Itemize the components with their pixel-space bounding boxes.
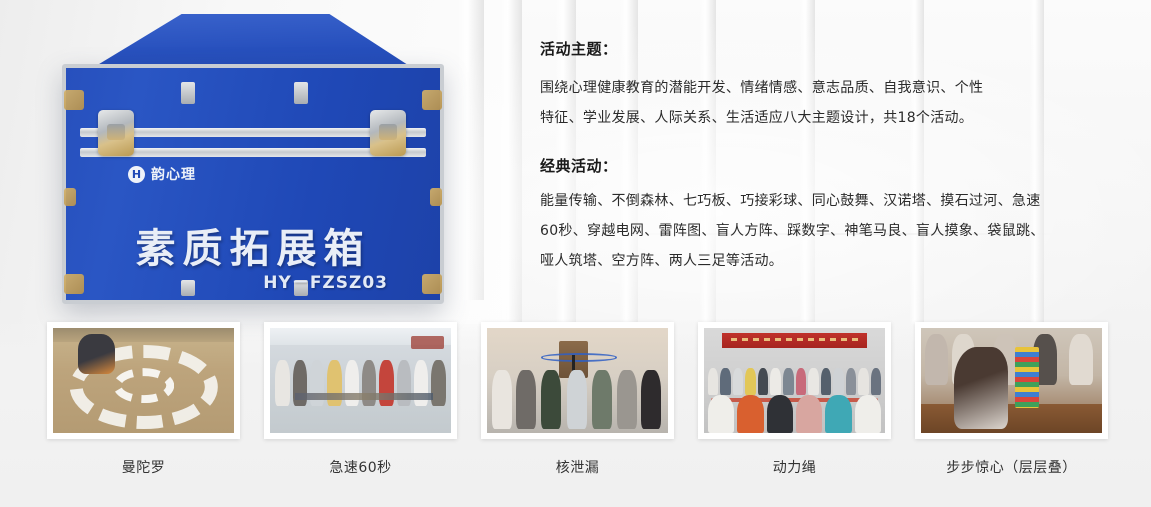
activity-gallery: 曼陀罗 急速60秒: [0, 322, 1151, 507]
case-latch-left: [98, 110, 134, 156]
section-heading-theme: 活动主题：: [540, 38, 1120, 59]
photo-speed-60s: [270, 328, 451, 433]
section-body-theme: 围绕心理健康教育的潜能开发、情绪情感、意志品质、自我意识、个性 特征、学业发展、…: [540, 73, 1120, 133]
gallery-item[interactable]: 急速60秒: [264, 322, 457, 507]
wooden-table: [921, 404, 1102, 433]
case-corner-protector: [430, 188, 442, 206]
observer-figure: [925, 334, 949, 384]
participant-figure: [954, 347, 1008, 429]
gallery-item[interactable]: 步步惊心（层层叠）: [915, 322, 1108, 507]
activity-line: 能量传输、不倒森林、七巧板、巧接彩球、同心鼓舞、汉诺塔、摸石过河、急速: [540, 186, 1120, 216]
gallery-caption: 动力绳: [698, 457, 891, 477]
case-corner-protector: [422, 90, 442, 110]
jenga-tower: [1015, 347, 1039, 408]
red-event-banner: [722, 333, 867, 348]
case-corner-protector: [64, 90, 84, 110]
brand-logo: H 韵心理: [128, 164, 196, 184]
case-corner-protector: [64, 188, 76, 206]
background-seating: [411, 336, 444, 349]
activity-ring: [541, 353, 617, 361]
product-case: H 韵心理 素质拓展箱 HY－FZSZ03: [52, 14, 452, 314]
gallery-caption: 急速60秒: [264, 457, 457, 477]
gallery-caption: 核泄漏: [481, 457, 674, 477]
case-corner-protector: [64, 274, 84, 294]
case-clip: [294, 82, 308, 104]
gallery-item[interactable]: 核泄漏: [481, 322, 674, 507]
participant-figure: [492, 370, 512, 429]
photo-frame[interactable]: [481, 322, 674, 439]
activity-line: 哑人筑塔、空方阵、两人三足等活动。: [540, 246, 1120, 276]
participant-figure: [592, 370, 612, 429]
case-latch-right: [370, 110, 406, 156]
photo-power-rope: [704, 328, 885, 433]
case-model-number: HY－FZSZ03: [263, 268, 388, 293]
participants-standing-circle: [708, 368, 882, 395]
case-clip: [181, 82, 195, 104]
observer-figure: [1069, 334, 1093, 384]
section-body-activities: 能量传输、不倒森林、七巧板、巧接彩球、同心鼓舞、汉诺塔、摸石过河、急速 60秒、…: [540, 186, 1120, 276]
section-heading-activities: 经典活动：: [540, 155, 1120, 176]
photo-frame[interactable]: [264, 322, 457, 439]
description-panel: 活动主题： 围绕心理健康教育的潜能开发、情绪情感、意志品质、自我意识、个性 特征…: [540, 38, 1120, 276]
participant-figure: [541, 370, 561, 429]
photo-jenga: [921, 328, 1102, 433]
activity-line: 60秒、穿越电网、雷阵图、盲人方阵、踩数字、神笔马良、盲人摸象、袋鼠跳、: [540, 216, 1120, 246]
photo-frame[interactable]: [915, 322, 1108, 439]
brand-logo-text: 韵心理: [151, 164, 196, 184]
gallery-item[interactable]: 曼陀罗: [47, 322, 240, 507]
case-clip: [181, 280, 195, 296]
brand-logo-mark: H: [128, 166, 145, 183]
case-corner-protector: [422, 274, 442, 294]
participant-figure: [516, 370, 536, 429]
case-front-panel: H 韵心理 素质拓展箱 HY－FZSZ03: [62, 64, 444, 304]
gallery-caption: 曼陀罗: [47, 457, 240, 477]
participant-figure: [78, 334, 114, 374]
photo-frame[interactable]: [47, 322, 240, 439]
participants-front-row: [708, 395, 882, 433]
theme-line: 围绕心理健康教育的潜能开发、情绪情感、意志品质、自我意识、个性: [540, 73, 1120, 103]
gallery-caption: 步步惊心（层层叠）: [915, 457, 1108, 477]
gallery-item[interactable]: 动力绳: [698, 322, 891, 507]
theme-line: 特征、学业发展、人际关系、生活适应八大主题设计，共18个活动。: [540, 103, 1120, 133]
inner-paper-ring: [113, 368, 175, 404]
participant-figure: [567, 370, 587, 429]
photo-frame[interactable]: [698, 322, 891, 439]
case-product-name: 素质拓展箱: [66, 216, 440, 274]
cards-line-on-floor: [295, 393, 433, 400]
photo-nuclear-leak: [487, 328, 668, 433]
participant-figure: [641, 370, 661, 429]
participant-figure: [617, 370, 637, 429]
photo-mandala: [53, 328, 234, 433]
